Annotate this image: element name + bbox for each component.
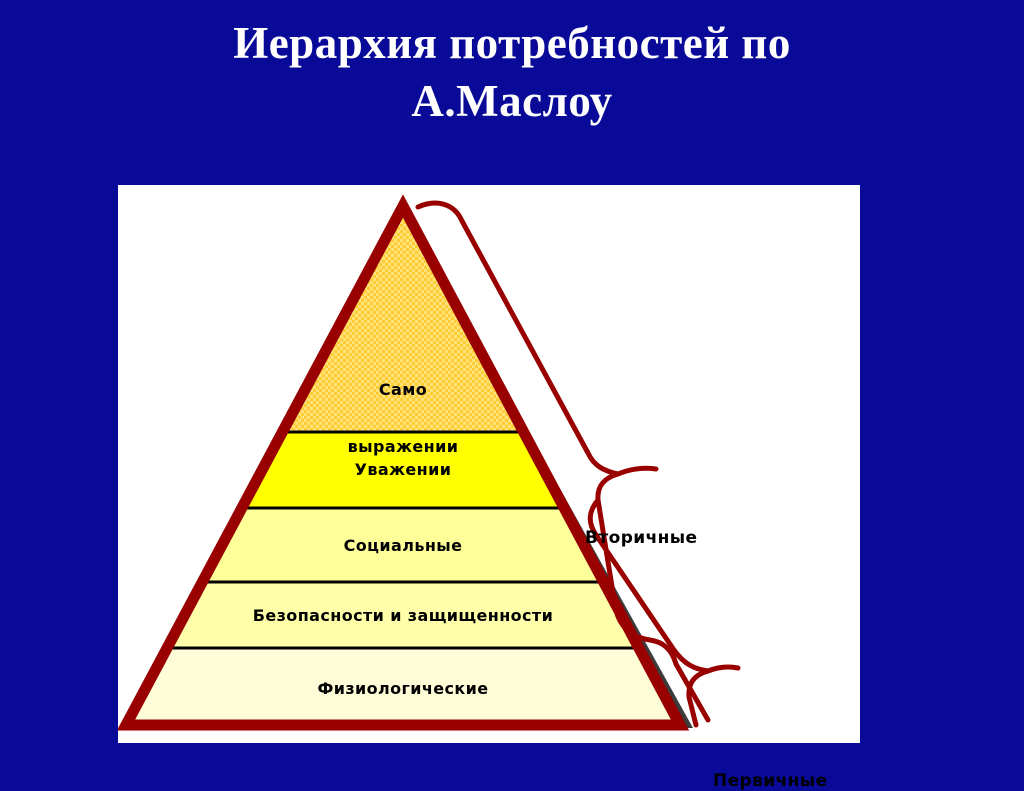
pyramid-band-3-fill (118, 508, 860, 582)
pyramid-band-2-fill (118, 432, 860, 508)
primary-needs-brace-label: Первичные (713, 771, 828, 791)
secondary-needs-brace-label: Вторичные (585, 528, 698, 548)
page-title-line-1: Иерархия потребностей по (0, 14, 1024, 72)
secondary-needs-brace-tip (618, 468, 656, 474)
pyramid-band-1-fill (118, 185, 860, 432)
maslow-pyramid-graphic (118, 185, 860, 743)
diagram-panel: Само выражении Уважении Социальные Безоп… (118, 185, 860, 743)
pyramid-band-4-fill (118, 582, 860, 648)
primary-needs-brace-tip (708, 667, 738, 671)
page-title-line-2: А.Маслоу (0, 72, 1024, 130)
page-title: Иерархия потребностей по А.Маслоу (0, 14, 1024, 130)
slide-canvas: Иерархия потребностей по А.Маслоу (0, 0, 1024, 767)
